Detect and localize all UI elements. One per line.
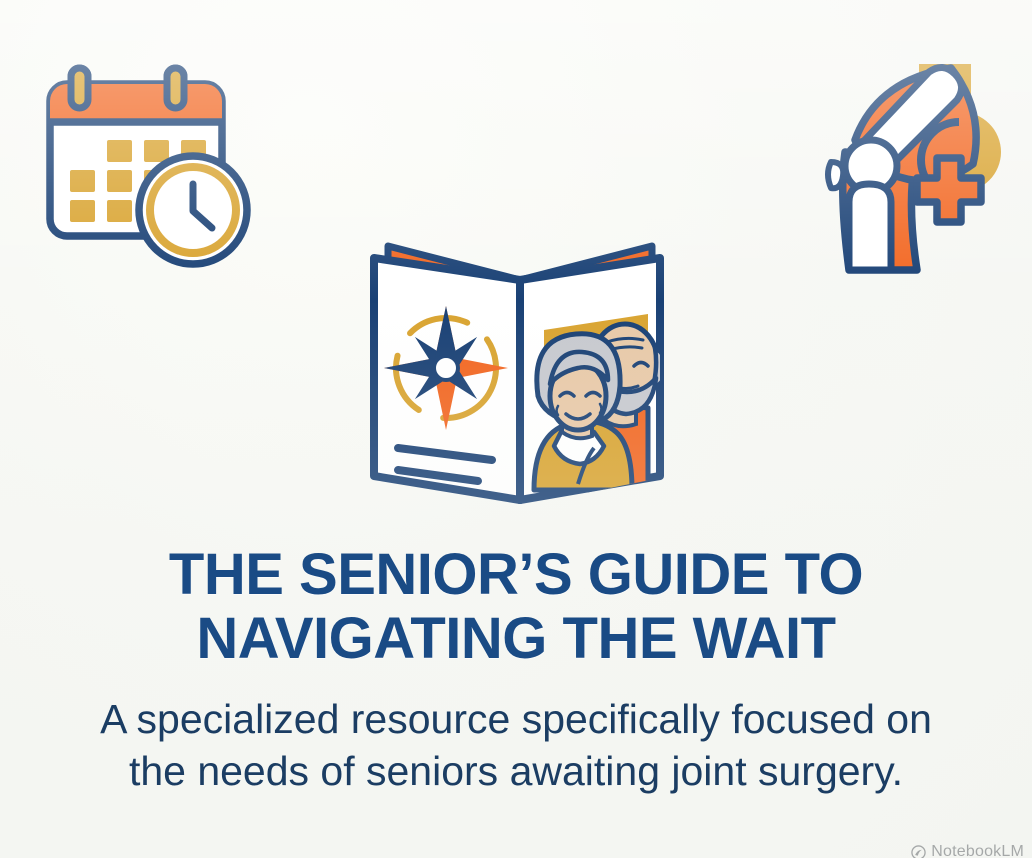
knee-patella: [828, 162, 843, 188]
watermark-label: NotebookLM: [931, 843, 1024, 858]
knee-tibia-bone: [849, 184, 891, 270]
open-book-illustration: [352, 228, 682, 528]
headline-line-2: NAVIGATING THE WAIT: [0, 607, 1032, 671]
calendar-clock-icon: [44, 62, 276, 270]
subheadline-line-1: A specialized resource specifically focu…: [0, 693, 1032, 745]
subheadline-line-2: the needs of seniors awaiting joint surg…: [0, 745, 1032, 797]
poster-text-block: THE SENIOR’S GUIDE TO NAVIGATING THE WAI…: [0, 543, 1032, 797]
poster-canvas: THE SENIOR’S GUIDE TO NAVIGATING THE WAI…: [0, 0, 1032, 858]
open-book-svg: [352, 228, 682, 528]
elderly-couple-illustration: [534, 324, 666, 492]
calendar-clock-svg: [44, 62, 276, 270]
compass-center-hub: [434, 356, 458, 380]
page-title: THE SENIOR’S GUIDE TO NAVIGATING THE WAI…: [0, 543, 1032, 671]
clock-icon: [139, 156, 247, 264]
book-right-page-content: [534, 314, 666, 492]
knee-joint-icon: [793, 56, 1032, 278]
knee-joint-svg: [793, 56, 1032, 278]
page-subtitle: A specialized resource specifically focu…: [0, 693, 1032, 797]
notebooklm-spark-icon: [911, 845, 926, 858]
headline-line-1: THE SENIOR’S GUIDE TO: [0, 543, 1032, 607]
notebooklm-watermark: NotebookLM: [911, 843, 1024, 858]
